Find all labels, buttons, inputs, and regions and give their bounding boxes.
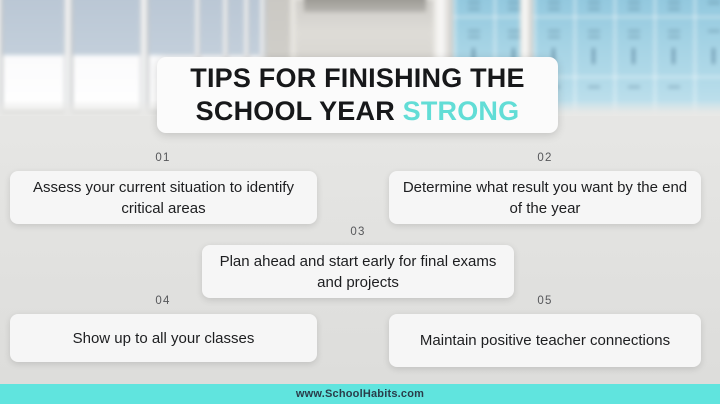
locker-vent (508, 8, 520, 10)
locker-latch (632, 48, 635, 64)
tip-text-03: Plan ahead and start early for final exa… (214, 251, 502, 293)
tip-text-02: Determine what result you want by the en… (401, 177, 689, 219)
tip-number-03: 03 (328, 226, 388, 238)
locker-vent (668, 36, 680, 38)
locker-vent (628, 86, 640, 88)
title-line-1: TIPS FOR FINISHING THE (190, 62, 524, 95)
locker-vent (708, 2, 720, 4)
locker-vent (508, 30, 520, 32)
locker-rail (442, 16, 720, 18)
title-line-2: SCHOOL YEAR STRONG (196, 95, 520, 128)
title-line-2-plain: SCHOOL YEAR (196, 96, 403, 126)
locker-vent (668, 2, 680, 4)
window-mullion (64, 0, 73, 116)
locker-vent (588, 30, 600, 32)
tip-number-01: 01 (133, 152, 193, 164)
locker-vent (628, 36, 640, 38)
locker-vent (548, 8, 560, 10)
window-mullion (140, 0, 149, 116)
locker-vent (508, 2, 520, 4)
locker-divider (694, 0, 696, 116)
locker-latch (712, 48, 715, 64)
locker-vent (628, 2, 640, 4)
locker-divider (574, 0, 576, 116)
tip-text-01: Assess your current situation to identif… (22, 177, 305, 219)
tip-card-05: Maintain positive teacher connections (389, 314, 701, 367)
locker-vent (628, 30, 640, 32)
locker-vent (628, 8, 640, 10)
locker-vent (588, 86, 600, 88)
locker-vent (468, 36, 480, 38)
locker-vent (468, 2, 480, 4)
locker-vent (668, 86, 680, 88)
locker-vent (468, 30, 480, 32)
locker-latch (592, 48, 595, 64)
tip-text-05: Maintain positive teacher connections (420, 330, 670, 351)
locker-vent (468, 8, 480, 10)
locker-vent (668, 8, 680, 10)
locker-vent (588, 8, 600, 10)
tip-card-01: Assess your current situation to identif… (10, 171, 317, 224)
door-header-shadow (304, 0, 426, 12)
locker-divider (614, 0, 616, 116)
infographic-poster: TIPS FOR FINISHING THE SCHOOL YEAR STRON… (0, 0, 720, 404)
tip-card-03: Plan ahead and start early for final exa… (202, 245, 514, 298)
locker-vent (548, 2, 560, 4)
locker-vent (508, 36, 520, 38)
title-accent-word: STRONG (403, 96, 520, 126)
tip-number-05: 05 (515, 295, 575, 307)
footer-bar: www.SchoolHabits.com (0, 384, 720, 404)
tip-text-04: Show up to all your classes (73, 328, 255, 349)
locker-vent (668, 30, 680, 32)
tip-card-04: Show up to all your classes (10, 314, 317, 362)
locker-vent (588, 2, 600, 4)
tip-number-02: 02 (515, 152, 575, 164)
tip-number-04: 04 (133, 295, 193, 307)
locker-vent (548, 30, 560, 32)
locker-latch (672, 48, 675, 64)
locker-vent (548, 36, 560, 38)
locker-divider (654, 0, 656, 116)
title-card: TIPS FOR FINISHING THE SCHOOL YEAR STRON… (157, 57, 558, 133)
locker-vent (588, 36, 600, 38)
locker-vent (708, 30, 720, 32)
tip-card-02: Determine what result you want by the en… (389, 171, 701, 224)
window-mullion (0, 0, 3, 116)
footer-website-url[interactable]: www.SchoolHabits.com (296, 388, 424, 400)
